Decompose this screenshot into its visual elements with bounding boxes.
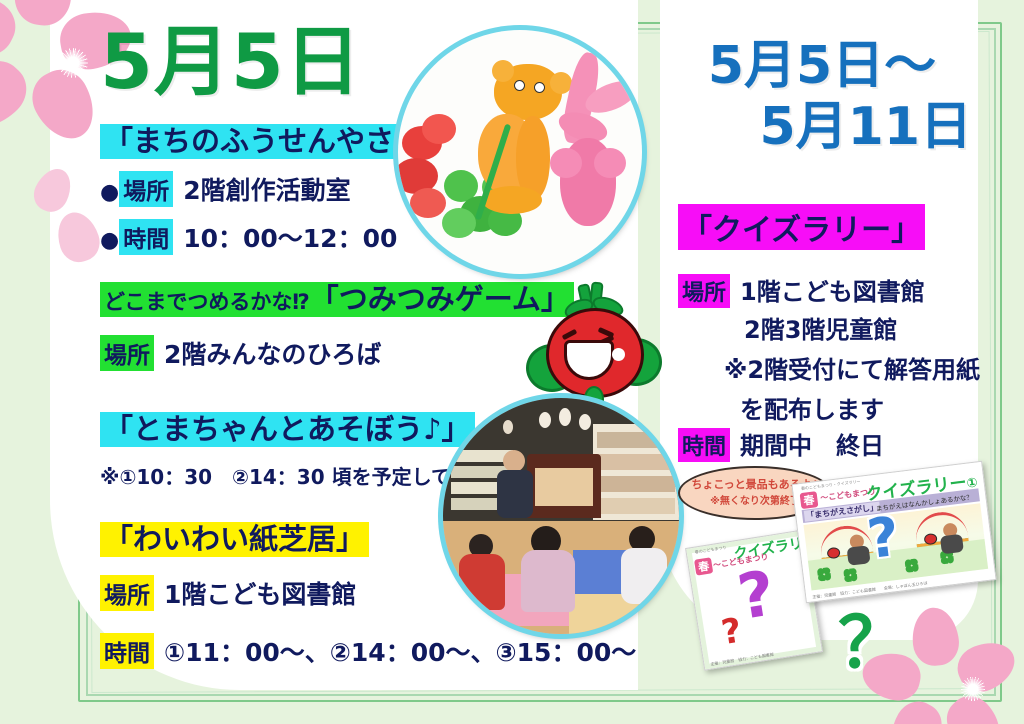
value-time: 期間中 終日 [740,432,884,460]
bubble-line-2: ※無くなり次第終了 [710,494,800,509]
label-time: 時間 [119,219,173,255]
label-time: 時間 [100,633,154,669]
question-mark-blue-icon: ? [865,510,903,567]
value-place-line1: 1階こども図書館 [740,278,925,306]
event-block-quiz-rally: 「クイズラリー」 [678,204,925,250]
label-place: 場所 [119,171,173,207]
sakura-center [58,48,88,78]
card2-season-label: 春 [694,557,713,575]
quiz-rally-sheet-1: 春のこどもまつり・クイズラリー 春 〜こどもまつり クイズラリー① 「まちがえさ… [791,461,996,604]
right-date-title: 5月5日〜 5月11日 [668,36,976,159]
value-place: 1階こども図書館 [164,580,356,609]
value-place: 2階みんなのひろば [164,340,381,369]
bullet-icon: ● [100,228,119,253]
label-place: 場所 [100,335,154,371]
value-place: 2階創作活動室 [183,176,350,205]
event-title-stacking-game: どこまでつめるかな⁉「つみつみゲーム」 [100,282,574,317]
event-row-time: 時間①11：00〜、②14：00〜、③15：00〜 [100,633,636,669]
poster-canvas: 5月5日 「まちのふうせんやさん」 ●場所2階創作活動室 ●時間10：00〜12… [0,0,1024,724]
card1-season-label: 春 [800,491,819,509]
quiz-rally-place-line4: を配布します [740,390,884,425]
label-place: 場所 [100,575,154,611]
right-date-line2: 5月11日 [668,97,976,158]
right-date-line1: 5月5日〜 [708,36,936,96]
event-block-stacking-game: どこまでつめるかな⁉「つみつみゲーム」 場所2階みんなのひろば [100,282,574,371]
value-time: ①11：00〜、②14：00〜、③15：00〜 [164,638,636,667]
event-prefix-stacking-game: どこまでつめるかな⁉ [104,290,310,314]
quiz-rally-row-time: 時間期間中 終日 [678,426,884,462]
event-row-time: ●時間10：00〜12：00 [100,219,456,255]
event-title-quiz-rally: 「クイズラリー」 [678,204,925,250]
bullet-icon: ● [100,180,119,205]
question-mark-green-icon: ？ [838,608,908,678]
quiz-rally-row-place: 場所1階こども図書館 [678,272,925,308]
left-date-title: 5月5日 [100,24,362,100]
kamishibai-storytime-photo [443,398,679,634]
sakura-flower-icon [913,629,1024,724]
label-place: 場所 [678,274,730,308]
balloon-art-photo [398,30,642,274]
toma-chan-mascot [528,282,660,410]
event-row-place: 場所2階みんなのひろば [100,335,574,371]
sakura-center [961,677,985,701]
label-time: 時間 [678,428,730,462]
value-time: 10：00〜12：00 [183,224,397,253]
quiz-rally-place-line3: ※2階受付にて解答用紙 [724,350,980,385]
quiz-rally-place-line2: 2階3階児童館 [744,310,897,345]
